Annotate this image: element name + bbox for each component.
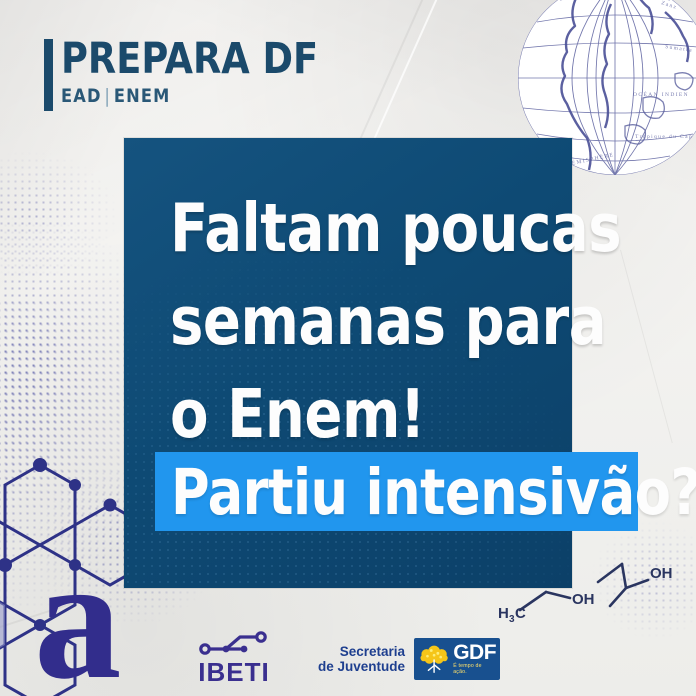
svg-text:Tropique du Capricorne: Tropique du Capricorne: [635, 134, 696, 140]
brand-bar-icon: [44, 39, 53, 111]
ibeti-logo: IBETI: [196, 631, 272, 686]
headline-text: Faltam poucas semanas para o Enem!: [170, 182, 561, 461]
chem-label-h3c: H: [498, 605, 509, 622]
secretaria-line-1: Secretaria: [318, 644, 405, 659]
brand-name: PREPARA DF: [61, 36, 318, 82]
brand-subtitle-enem: ENEM: [114, 85, 171, 107]
headline-line-1: Faltam poucas: [170, 182, 561, 275]
headline-line-2: semanas para: [170, 275, 561, 368]
halftone-dot-field-topleft: [0, 150, 120, 280]
highlight-text: Partiu intensivão?: [171, 455, 608, 530]
gdf-logo: GDF É tempo de ação.: [414, 638, 500, 680]
brand-subtitle-ead: EAD: [61, 85, 102, 107]
gdf-ipe-tree-icon: [418, 642, 450, 676]
brand-subtitle-separator: |: [102, 85, 114, 107]
footer-logos: IBETI Secretaria de Juventude: [0, 631, 696, 686]
chemistry-doodle: H 3 C OH OH: [498, 548, 688, 638]
brand-logo: PREPARA DF EAD|ENEM: [44, 36, 332, 107]
headline-line-3: o Enem!: [170, 368, 561, 461]
brand-subtitle: EAD|ENEM: [61, 86, 318, 107]
secretaria-logo: Secretaria de Juventude: [318, 644, 405, 674]
chem-label-c: C: [515, 605, 526, 622]
gdf-name: GDF: [453, 642, 496, 663]
secretaria-line-2: de Juventude: [318, 659, 405, 674]
gdf-tagline: É tempo de ação.: [453, 664, 496, 674]
ibeti-name: IBETI: [198, 658, 269, 686]
chem-label-oh-2: OH: [650, 565, 673, 582]
ibeti-circuit-icon: [196, 631, 272, 657]
poster-canvas: OCÉAN INDIEN Tropique du Capricorne HÉMI…: [0, 0, 696, 696]
chem-label-oh-1: OH: [572, 591, 595, 608]
svg-text:OCÉAN INDIEN: OCÉAN INDIEN: [633, 90, 689, 98]
